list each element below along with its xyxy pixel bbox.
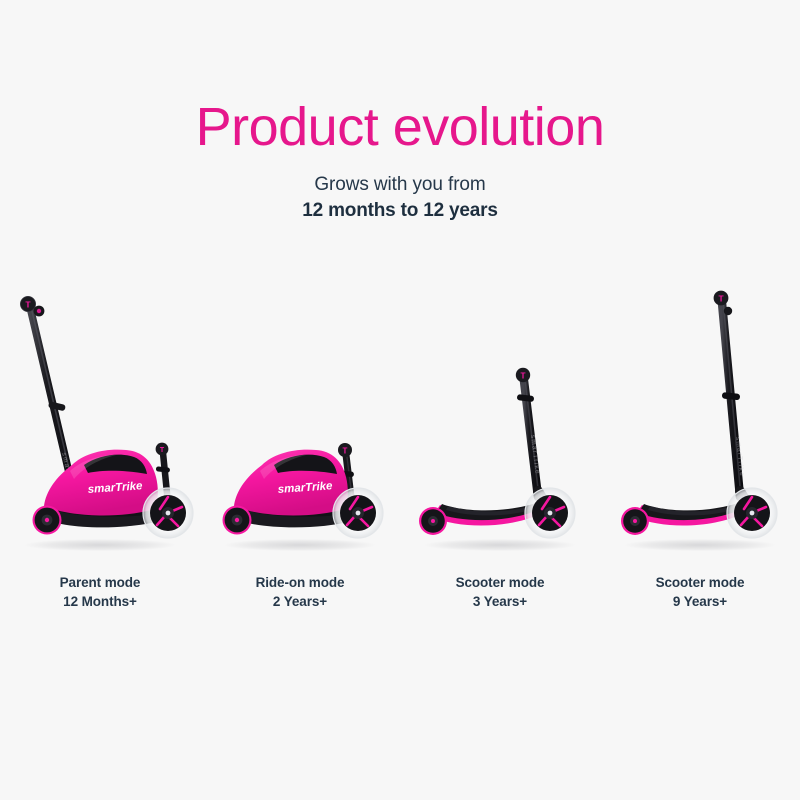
scooter-low-stem-illustration: smarTrike T [400, 285, 600, 557]
caption-scooter-mode-9: Scooter mode 9 Years+ [600, 573, 800, 611]
mode-label: Scooter mode [656, 575, 745, 590]
age-label: 3 Years+ [400, 592, 600, 611]
ride-on-illustration: T smarTrike [200, 285, 400, 557]
product-card-ride-on-mode[interactable]: T smarTrike [200, 285, 400, 625]
knob-t-mark: T [520, 371, 525, 380]
product-card-parent-mode[interactable]: smarTrike T T [0, 285, 200, 625]
product-row: smarTrike T T [0, 285, 800, 625]
product-card-scooter-mode-3[interactable]: smarTrike T [400, 285, 600, 625]
scooter-high-stem-illustration: smarTrike T [600, 285, 800, 557]
caption-parent-mode: Parent mode 12 Months+ [0, 573, 200, 611]
rear-wheel [33, 506, 62, 535]
product-image-scooter-high: smarTrike T [600, 285, 800, 557]
knob-t-mark: T [343, 446, 348, 455]
product-evolution-infographic: Product evolution Grows with you from 12… [0, 0, 800, 800]
product-image-ride-on-mode: T smarTrike [200, 285, 400, 557]
age-label: 2 Years+ [200, 592, 400, 611]
age-label: 12 Months+ [0, 592, 200, 611]
pink-body-shell: smarTrike [44, 450, 158, 516]
rear-wheel [419, 507, 447, 535]
ground-shadow [225, 539, 375, 551]
front-wheel [727, 488, 777, 538]
rear-wheel [223, 506, 252, 535]
subtitle-line-2: 12 months to 12 years [0, 198, 800, 224]
ride-on-with-parent-handle-illustration: smarTrike T T [0, 285, 200, 557]
knob-t-mark: T [718, 293, 724, 303]
knob-t-mark: T [25, 299, 31, 309]
caption-scooter-mode-3: Scooter mode 3 Years+ [400, 573, 600, 611]
header: Product evolution Grows with you from 12… [0, 96, 800, 224]
front-wheel [143, 488, 193, 538]
ground-shadow [25, 539, 175, 551]
page-title: Product evolution [0, 96, 800, 158]
subtitle-line-1: Grows with you from [0, 172, 800, 198]
front-knob-t-mark: T [160, 447, 165, 454]
scooter-stem: smarTrike T [516, 368, 541, 497]
front-wheel [525, 488, 575, 538]
scooter-stem: smarTrike T [714, 291, 746, 497]
caption-ride-on-mode: Ride-on mode 2 Years+ [200, 573, 400, 611]
mode-label: Parent mode [60, 575, 141, 590]
mode-label: Scooter mode [456, 575, 545, 590]
product-image-parent-mode: smarTrike T T [0, 285, 200, 557]
mode-label: Ride-on mode [256, 575, 345, 590]
product-card-scooter-mode-9[interactable]: smarTrike T [600, 285, 800, 625]
ground-shadow [425, 539, 575, 551]
rear-wheel [621, 507, 649, 535]
front-wheel [333, 488, 383, 538]
product-image-scooter-low: smarTrike T [400, 285, 600, 557]
age-label: 9 Years+ [600, 592, 800, 611]
ground-shadow [625, 539, 775, 551]
pink-body-shell: smarTrike [234, 450, 348, 516]
